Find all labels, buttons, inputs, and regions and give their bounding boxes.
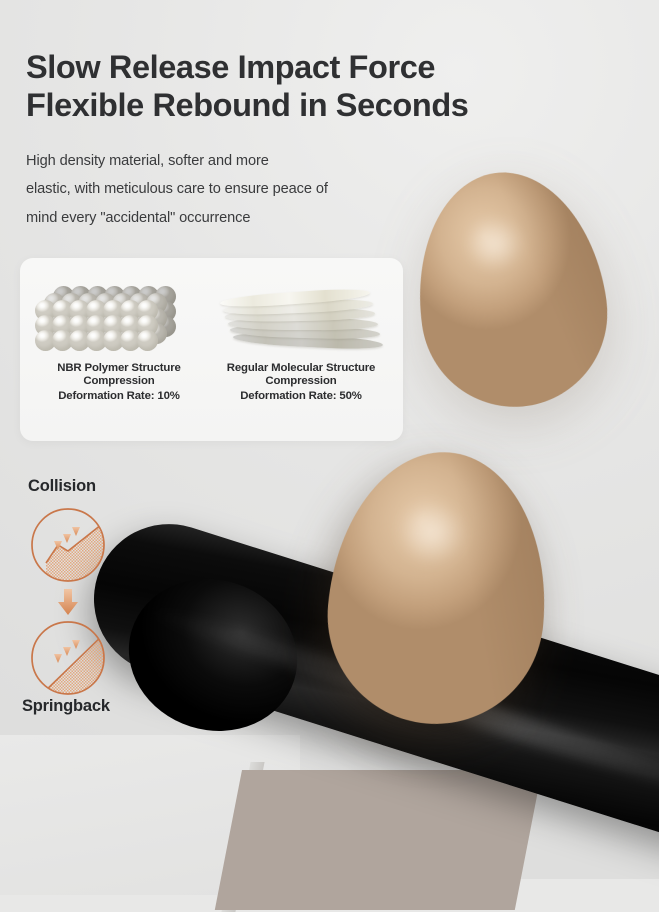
headline-line-2: Flexible Rebound in Seconds xyxy=(26,86,586,124)
collision-label: Collision xyxy=(28,477,96,496)
figure-sub-line-1: Compression xyxy=(265,375,336,387)
sphere-lattice xyxy=(35,278,203,353)
figure-sub-line-2: Deformation Rate: 50% xyxy=(240,390,362,402)
headline-line-1: Slow Release Impact Force xyxy=(26,48,586,86)
sphere-lattice-icon xyxy=(30,272,208,360)
figure-sub-line-1: Compression xyxy=(83,375,154,387)
down-arrow-icon xyxy=(56,588,80,616)
figure-title: NBR Polymer Structure xyxy=(30,362,208,374)
restored-circle-hatch-icon xyxy=(28,618,108,698)
page-title: Slow Release Impact Force Flexible Rebou… xyxy=(26,48,586,125)
wall-panel xyxy=(215,770,542,910)
comparison-column-regular: Regular Molecular Structure Compression … xyxy=(212,272,390,428)
structure-comparison-card: NBR Polymer Structure Compression Deform… xyxy=(20,258,403,441)
description-line-2: elastic, with meticulous care to ensure … xyxy=(26,175,426,203)
description-line-3: mind every "accidental" occurrence xyxy=(26,204,426,232)
description-line-1: High density material, softer and more xyxy=(26,147,426,175)
layered-sheets-icon xyxy=(212,272,390,360)
figure-subtitle: Compression Deformation Rate: 50% xyxy=(212,374,390,403)
comparison-column-nbr: NBR Polymer Structure Compression Deform… xyxy=(30,272,208,428)
lattice-sphere xyxy=(137,330,158,351)
springback-label: Springback xyxy=(22,697,110,716)
dented-circle-hatch-icon xyxy=(28,505,108,585)
figure-subtitle: Compression Deformation Rate: 10% xyxy=(30,374,208,403)
layered-sheets xyxy=(226,292,376,354)
figure-title: Regular Molecular Structure xyxy=(212,362,390,374)
description-text: High density material, softer and more e… xyxy=(26,147,426,232)
figure-sub-line-2: Deformation Rate: 10% xyxy=(58,390,180,402)
